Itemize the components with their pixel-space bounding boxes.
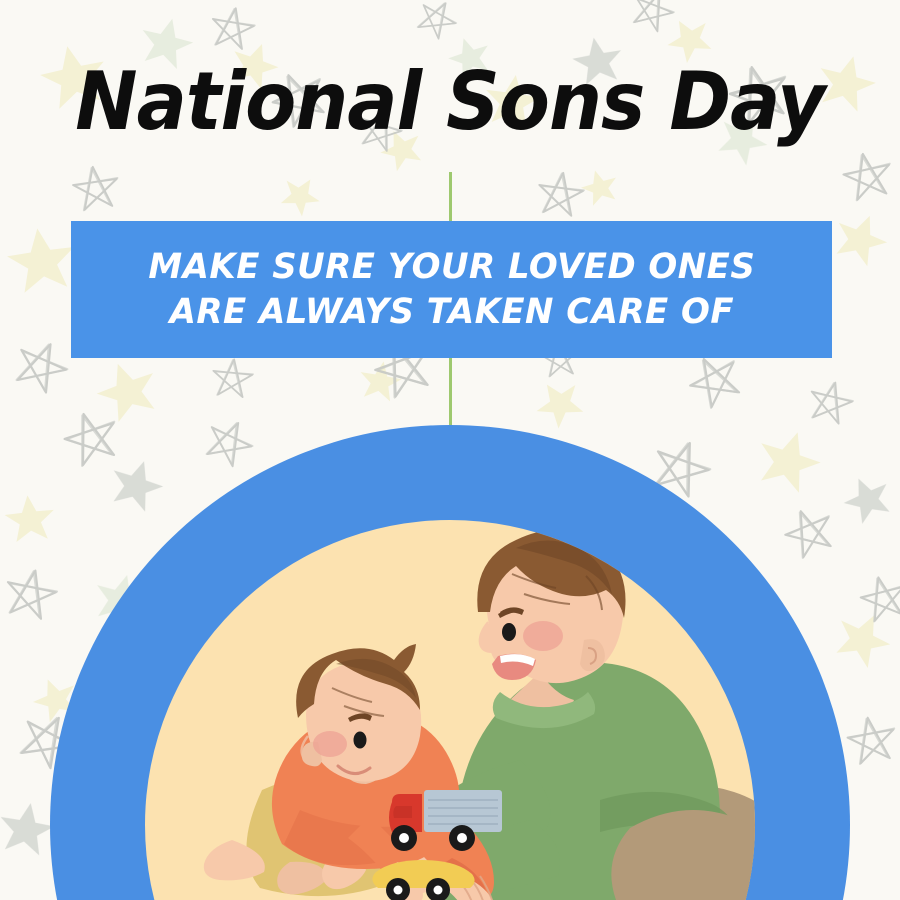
illustration-clip <box>145 520 755 900</box>
father-and-son-illustration <box>145 520 755 900</box>
poster-canvas: National Sons Day MAKE SURE YOUR LOVED O… <box>0 0 900 900</box>
page-title: National Sons Day <box>32 62 869 142</box>
tagline-text: MAKE SURE YOUR LOVED ONES ARE ALWAYS TAK… <box>148 245 755 335</box>
tagline-banner: MAKE SURE YOUR LOVED ONES ARE ALWAYS TAK… <box>71 221 832 358</box>
son-figure <box>204 644 496 900</box>
